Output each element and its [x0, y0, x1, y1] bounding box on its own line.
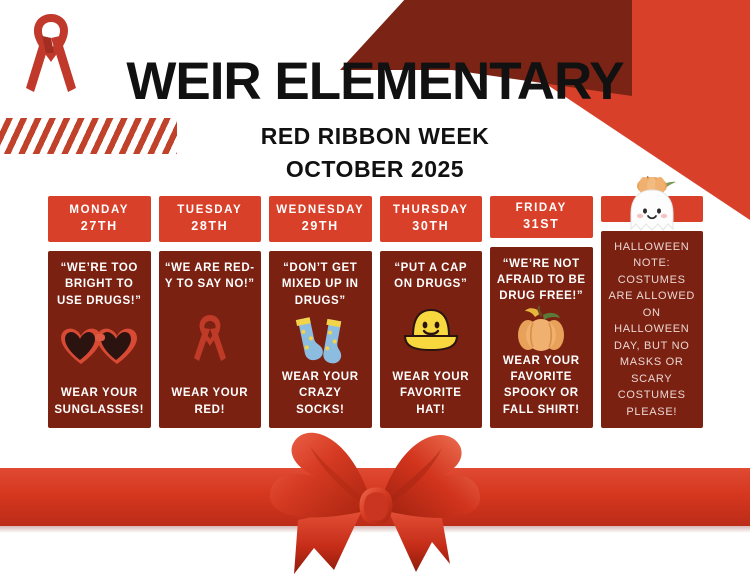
- day-quote: “WE’RE TOO BRIGHT TO USE DRUGS!”: [53, 260, 146, 309]
- day-action: WEAR YOUR FAVORITE HAT!: [385, 369, 478, 418]
- day-art: [395, 293, 467, 369]
- day-header-friday: FRIDAY 31ST: [490, 196, 593, 238]
- event-title: RED RIBBON WEEK: [95, 123, 655, 150]
- day-header-tuesday: TUESDAY 28TH: [159, 196, 262, 242]
- day-art: [57, 309, 141, 385]
- pumpkin-icon: [508, 305, 574, 353]
- day-date: 28TH: [191, 218, 228, 235]
- crazy-socks-icon: [288, 314, 352, 364]
- day-quote: “WE ARE RED-Y TO SAY NO!”: [164, 260, 257, 293]
- ghost-header-block: [601, 196, 704, 222]
- day-card-friday: “WE’RE NOT AFRAID TO BE DRUG FREE!” WEAR…: [490, 247, 593, 428]
- red-ribbon-week-poster: WEIR ELEMENTARY RED RIBBON WEEK OCTOBER …: [0, 0, 750, 580]
- page-title: WEIR ELEMENTARY: [95, 55, 655, 108]
- day-quote: “DON’T GET MIXED UP IN DRUGS”: [274, 260, 367, 309]
- day-card-thursday: “PUT A CAP ON DRUGS” WEAR YOUR FAVORITE …: [380, 251, 483, 428]
- day-header-wednesday: WEDNESDAY 29TH: [269, 196, 372, 242]
- ghost-with-pumpkin-icon: [617, 172, 687, 242]
- day-action: WEAR YOUR SUNGLASSES!: [53, 385, 146, 418]
- schedule-column-tuesday: TUESDAY 28TH “WE ARE RED-Y TO SAY NO!” W…: [159, 196, 262, 428]
- day-name: FRIDAY: [516, 201, 567, 217]
- day-card-monday: “WE’RE TOO BRIGHT TO USE DRUGS!” WEAR YO…: [48, 251, 151, 428]
- day-date: 27TH: [81, 218, 118, 235]
- red-gift-bow: [236, 424, 514, 576]
- week-schedule: MONDAY 27TH “WE’RE TOO BRIGHT TO USE DRU…: [48, 196, 703, 428]
- bucket-hat-icon: [395, 306, 467, 356]
- day-art: [189, 293, 231, 386]
- day-date: 29TH: [302, 218, 339, 235]
- halloween-note-text: HALLOWEEN NOTE: COSTUMES ARE ALLOWED ON …: [605, 239, 700, 421]
- day-quote: “WE’RE NOT AFRAID TO BE DRUG FREE!”: [495, 256, 588, 305]
- heart-sunglasses-icon: [57, 326, 141, 368]
- day-quote: “PUT A CAP ON DRUGS”: [385, 260, 478, 293]
- day-name: MONDAY: [69, 203, 129, 219]
- event-date: OCTOBER 2025: [95, 156, 655, 183]
- awareness-ribbon-icon: [16, 8, 86, 103]
- day-date: 30TH: [412, 218, 449, 235]
- day-name: THURSDAY: [393, 203, 469, 219]
- schedule-column-monday: MONDAY 27TH “WE’RE TOO BRIGHT TO USE DRU…: [48, 196, 151, 428]
- day-action: WEAR YOUR FAVORITE SPOOKY OR FALL SHIRT!: [495, 353, 588, 418]
- day-card-tuesday: “WE ARE RED-Y TO SAY NO!” WEAR YOUR RED!: [159, 251, 262, 428]
- day-date: 31ST: [523, 216, 559, 233]
- schedule-column-thursday: THURSDAY 30TH “PUT A CAP ON DRUGS” WEAR …: [380, 196, 483, 428]
- schedule-column-note: HALLOWEEN NOTE: COSTUMES ARE ALLOWED ON …: [601, 196, 704, 428]
- day-header-monday: MONDAY 27TH: [48, 196, 151, 242]
- day-action: WEAR YOUR RED!: [164, 385, 257, 418]
- schedule-column-friday: FRIDAY 31ST “WE’RE NOT AFRAID TO BE DRUG…: [490, 196, 593, 428]
- halloween-note-card: HALLOWEEN NOTE: COSTUMES ARE ALLOWED ON …: [601, 231, 704, 429]
- day-art: [508, 305, 574, 353]
- day-name: WEDNESDAY: [276, 203, 364, 219]
- day-header-thursday: THURSDAY 30TH: [380, 196, 483, 242]
- day-name: TUESDAY: [177, 203, 242, 219]
- day-card-wednesday: “DON’T GET MIXED UP IN DRUGS”: [269, 251, 372, 428]
- schedule-column-wednesday: WEDNESDAY 29TH “DON’T GET MIXED UP IN DR…: [269, 196, 372, 428]
- red-ribbon-icon: [189, 313, 231, 365]
- day-action: WEAR YOUR CRAZY SOCKS!: [274, 369, 367, 418]
- day-art: [288, 309, 352, 369]
